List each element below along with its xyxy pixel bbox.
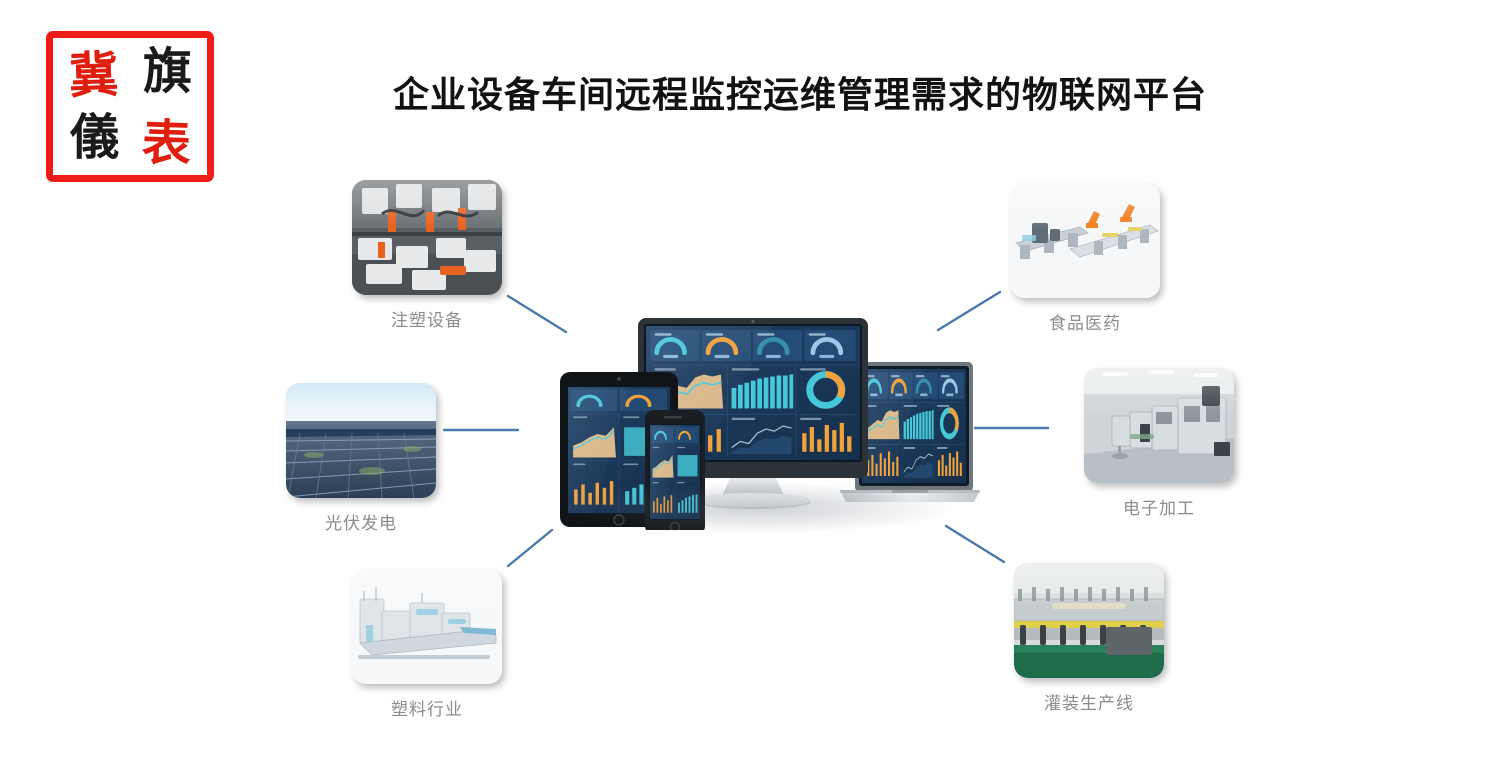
thumbnail-filling-line xyxy=(1014,563,1164,678)
node-label-solar-power: 光伏发电 xyxy=(281,509,441,534)
node-electronics-processing[interactable]: 电子加工 xyxy=(1079,368,1239,519)
node-filling-line[interactable]: 灌装生产线 xyxy=(1009,563,1169,714)
logo-char-2: 旗 xyxy=(129,37,206,106)
page-title: 企业设备车间远程监控运维管理需求的物联网平台 xyxy=(250,66,1350,118)
thumbnail-solar-power xyxy=(286,383,436,498)
node-solar-power[interactable]: 光伏发电 xyxy=(281,383,441,534)
slide-canvas: 冀 旗 儀 表 企业设备车间远程监控运维管理需求的物联网平台 xyxy=(0,0,1499,759)
thumbnail-electronics-processing xyxy=(1084,368,1234,483)
multi-device-dashboard-cluster xyxy=(540,300,980,530)
node-food-pharma[interactable]: 食品医药 xyxy=(1005,183,1165,334)
thumbnail-injection-molding xyxy=(352,180,502,295)
node-plastics-industry[interactable]: 塑料行业 xyxy=(347,569,507,720)
node-label-food-pharma: 食品医药 xyxy=(1005,309,1165,334)
node-label-electronics-processing: 电子加工 xyxy=(1079,494,1239,519)
device-smartphone xyxy=(645,410,705,530)
connector-to-node-5 xyxy=(946,526,1004,562)
logo-char-4: 表 xyxy=(127,107,206,178)
logo-char-1: 冀 xyxy=(54,40,133,111)
node-label-plastics-industry: 塑料行业 xyxy=(347,695,507,720)
node-label-filling-line: 灌装生产线 xyxy=(1009,689,1169,714)
connector-to-node-2 xyxy=(508,530,552,566)
company-logo: 冀 旗 儀 表 xyxy=(46,31,214,182)
logo-char-3: 儀 xyxy=(56,104,133,173)
node-injection-molding[interactable]: 注塑设备 xyxy=(347,180,507,331)
devices-illustration xyxy=(540,300,980,530)
thumbnail-plastics-industry xyxy=(352,569,502,684)
node-label-injection-molding: 注塑设备 xyxy=(347,306,507,331)
thumbnail-food-pharma xyxy=(1010,183,1160,298)
